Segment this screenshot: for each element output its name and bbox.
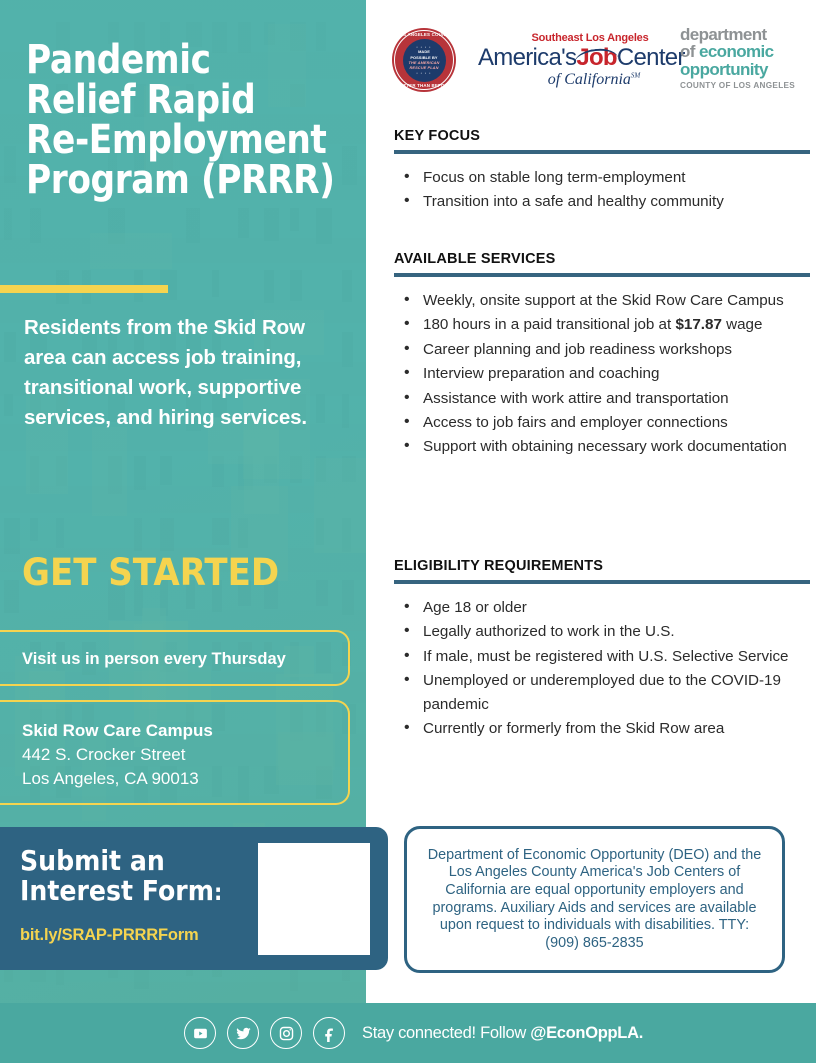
- list-item: If male, must be registered with U.S. Se…: [394, 645, 810, 668]
- section-eligibility-requirements: ELIGIBILITY REQUIREMENTS Age 18 or older…: [394, 558, 810, 741]
- page-title: Pandemic Relief Rapid Re-Employment Prog…: [26, 40, 310, 200]
- available-services-list: Weekly, onsite support at the Skid Row C…: [394, 289, 810, 459]
- intro-paragraph: Residents from the Skid Row area can acc…: [24, 313, 344, 433]
- list-item: Unemployed or underemployed due to the C…: [394, 669, 810, 716]
- list-item: Focus on stable long term-employment: [394, 166, 810, 189]
- list-item: Interview preparation and coaching: [394, 362, 810, 385]
- social-links: [184, 1017, 345, 1049]
- address-city-state-zip: Los Angeles, CA 90013: [22, 767, 213, 791]
- visit-hours-label: Visit us in person every Thursday: [22, 650, 286, 669]
- footer-bar: Stay connected! Follow @EconOppLA.: [0, 1003, 816, 1063]
- seal-arc-top: LOS ANGELES COUNTY: [392, 32, 456, 37]
- eligibility-requirements-list: Age 18 or olderLegally authorized to wor…: [394, 596, 810, 740]
- twitter-icon[interactable]: [227, 1017, 259, 1049]
- interest-form-heading-line-2: Interest Form: [20, 874, 214, 907]
- list-item: Assistance with work attire and transpor…: [394, 387, 810, 410]
- visit-hours-box: Visit us in person every Thursday: [0, 630, 350, 686]
- deo-line-1: department: [680, 26, 810, 43]
- flyer-page: Pandemic Relief Rapid Re-Employment Prog…: [0, 0, 816, 1063]
- ajcc-region-label: Southeast Los Angeles: [512, 32, 668, 44]
- american-rescue-plan-seal-icon: LOS ANGELES COUNTY BETTER THAN BEFORE • …: [392, 28, 456, 92]
- list-item: 180 hours in a paid transitional job at …: [394, 313, 810, 336]
- title-line-2: Relief Rapid: [26, 80, 310, 120]
- title-line-4: Program (PRRR): [26, 160, 310, 200]
- interest-form-heading-line-1: Submit an: [20, 844, 165, 877]
- title-line-3: Re-Employment: [26, 120, 310, 160]
- ajcc-center: Center: [617, 44, 685, 71]
- deo-line-2-of: of: [680, 42, 699, 61]
- interest-form-heading: Submit an Interest Form:: [20, 846, 222, 906]
- equal-opportunity-disclaimer: Department of Economic Opportunity (DEO)…: [404, 826, 785, 973]
- deo-line-4: COUNTY OF LOS ANGELES: [680, 82, 810, 90]
- list-item: Legally authorized to work in the U.S.: [394, 620, 810, 643]
- section-heading: AVAILABLE SERVICES: [394, 251, 810, 267]
- disclaimer-text: Department of Economic Opportunity (DEO)…: [423, 847, 766, 952]
- section-heading: KEY FOCUS: [394, 128, 810, 144]
- logo-row: LOS ANGELES COUNTY BETTER THAN BEFORE • …: [392, 26, 810, 104]
- instagram-icon[interactable]: [270, 1017, 302, 1049]
- interest-form-heading-colon: :: [214, 880, 222, 906]
- list-item: Weekly, onsite support at the Skid Row C…: [394, 289, 810, 312]
- ajcc-sm-mark: SM: [631, 72, 640, 80]
- address-street: 442 S. Crocker Street: [22, 743, 213, 767]
- list-item: Transition into a safe and healthy commu…: [394, 190, 810, 213]
- deo-line-2-economic: economic: [699, 42, 774, 61]
- americas-job-center-logo: Southeast Los Angeles America'sJobCenter…: [478, 32, 668, 89]
- list-item: Access to job fairs and employer connect…: [394, 411, 810, 434]
- section-divider: [394, 580, 810, 584]
- title-line-1: Pandemic: [26, 40, 310, 80]
- ajcc-americas: America's: [478, 44, 576, 71]
- list-item: Career planning and job readiness worksh…: [394, 338, 810, 361]
- address-site-name: Skid Row Care Campus: [22, 719, 213, 743]
- seal-arc-bottom: BETTER THAN BEFORE: [392, 83, 456, 88]
- list-item: Currently or formerly from the Skid Row …: [394, 717, 810, 740]
- deo-line-2: of economic: [680, 43, 810, 60]
- social-handle: @EconOppLA.: [530, 1024, 643, 1042]
- key-focus-list: Focus on stable long term-employmentTran…: [394, 166, 810, 214]
- list-item: Age 18 or older: [394, 596, 810, 619]
- section-available-services: AVAILABLE SERVICES Weekly, onsite suppor…: [394, 251, 810, 460]
- title-divider: [0, 285, 168, 293]
- section-heading: ELIGIBILITY REQUIREMENTS: [394, 558, 810, 574]
- follow-message: Stay connected! Follow @EconOppLA.: [362, 1024, 643, 1043]
- interest-form-url[interactable]: bit.ly/SRAP-PRRRForm: [20, 926, 198, 945]
- section-divider: [394, 150, 810, 154]
- interest-form-callout[interactable]: Submit an Interest Form: bit.ly/SRAP-PRR…: [0, 827, 388, 970]
- youtube-icon[interactable]: [184, 1017, 216, 1049]
- address-box: Skid Row Care Campus 442 S. Crocker Stre…: [0, 700, 350, 805]
- qr-code[interactable]: [258, 843, 370, 955]
- follow-prefix: Stay connected! Follow: [362, 1024, 530, 1042]
- qr-code-matrix: [264, 849, 364, 949]
- section-divider: [394, 273, 810, 277]
- list-item: Support with obtaining necessary work do…: [394, 435, 810, 458]
- wage-amount: $17.87: [675, 316, 721, 333]
- deo-line-3: opportunity: [680, 61, 810, 78]
- department-economic-opportunity-logo: department of economic opportunity COUNT…: [680, 26, 810, 90]
- ajcc-of-california: of CaliforniaSM: [520, 71, 668, 89]
- ajcc-wordmark: America'sJobCenter: [478, 45, 668, 70]
- get-started-heading: GET STARTED: [22, 551, 279, 594]
- facebook-icon[interactable]: [313, 1017, 345, 1049]
- section-key-focus: KEY FOCUS Focus on stable long term-empl…: [394, 128, 810, 215]
